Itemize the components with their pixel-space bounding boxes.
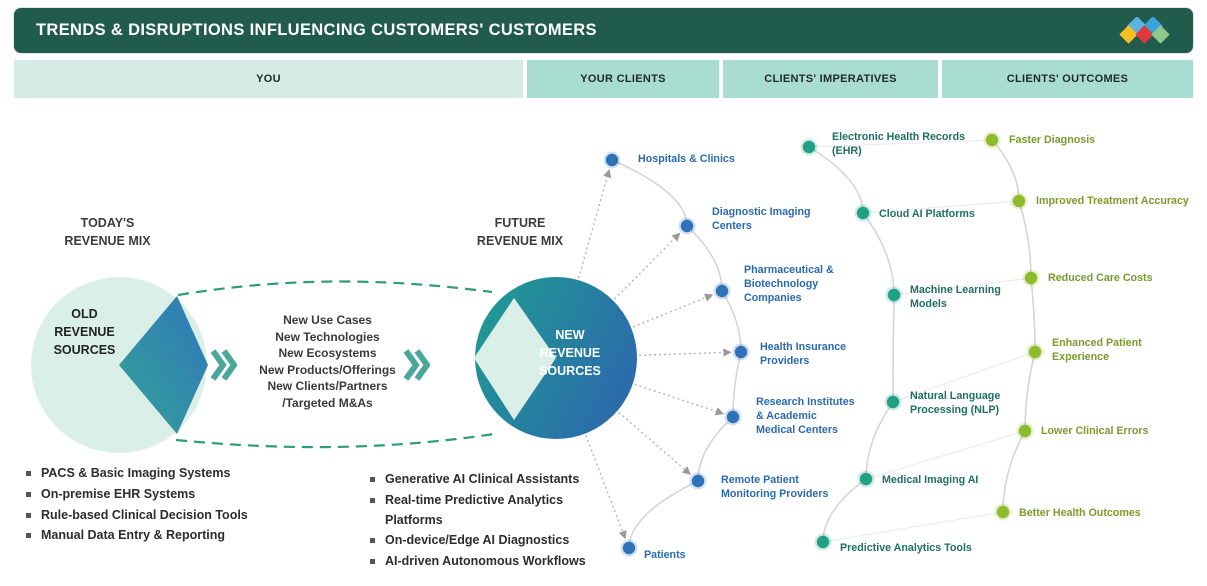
node-label[interactable]: Natural Language Processing (NLP) bbox=[910, 389, 1022, 417]
node-dot[interactable] bbox=[727, 411, 739, 423]
double-chevron-right-icon bbox=[211, 348, 237, 382]
node-label[interactable]: Predictive Analytics Tools bbox=[840, 541, 990, 555]
list-item: On-device/Edge AI Diagnostics bbox=[370, 531, 602, 551]
column-label: YOUR CLIENTS bbox=[580, 73, 666, 85]
node-dot[interactable] bbox=[887, 396, 899, 408]
node-dot[interactable] bbox=[1019, 425, 1031, 437]
node-dot[interactable] bbox=[986, 134, 998, 146]
node-label[interactable]: Hospitals & Clinics bbox=[638, 152, 768, 166]
node-label[interactable]: Lower Clinical Errors bbox=[1041, 424, 1186, 438]
column-header-clients-imperatives[interactable]: CLIENTS' IMPERATIVES bbox=[723, 60, 938, 98]
heading-line-1: TODAY'S bbox=[40, 214, 175, 232]
column-label: CLIENTS' IMPERATIVES bbox=[764, 73, 896, 85]
node-label[interactable]: Pharmaceutical & Biotechnology Companies bbox=[744, 263, 844, 305]
node-dot[interactable] bbox=[606, 154, 618, 166]
node-dot[interactable] bbox=[857, 207, 869, 219]
list-item: AI-driven Autonomous Workflows bbox=[370, 552, 602, 572]
node-dot[interactable] bbox=[1029, 346, 1041, 358]
driver-line: New Products/Offerings bbox=[240, 362, 415, 379]
node-label[interactable]: Electronic Health Records (EHR) bbox=[832, 130, 978, 158]
future-revenue-mix-heading: FUTURE REVENUE MIX bbox=[440, 214, 600, 250]
old-revenue-bullet-list: PACS & Basic Imaging Systems On-premise … bbox=[26, 464, 356, 547]
node-dot[interactable] bbox=[803, 141, 815, 153]
node-dot[interactable] bbox=[692, 475, 704, 487]
driver-line: New Ecosystems bbox=[240, 345, 415, 362]
todays-revenue-mix-heading: TODAY'S REVENUE MIX bbox=[40, 214, 175, 250]
new-revenue-bullet-list: Generative AI Clinical Assistants Real-t… bbox=[370, 470, 602, 573]
node-label[interactable]: Reduced Care Costs bbox=[1048, 271, 1193, 285]
node-dot[interactable] bbox=[1025, 272, 1037, 284]
node-dot[interactable] bbox=[888, 289, 900, 301]
diagram-canvas: TRENDS & DISRUPTIONS INFLUENCING CUSTOME… bbox=[0, 0, 1207, 586]
node-label[interactable]: Better Health Outcomes bbox=[1019, 506, 1174, 520]
node-label[interactable]: Cloud AI Platforms bbox=[879, 207, 999, 221]
driver-line: New Use Cases bbox=[240, 312, 415, 329]
column-header-clients-outcomes[interactable]: CLIENTS' OUTCOMES bbox=[942, 60, 1193, 98]
node-dot[interactable] bbox=[716, 285, 728, 297]
driver-line: /Targeted M&As bbox=[240, 395, 415, 412]
list-item: Rule-based Clinical Decision Tools bbox=[26, 506, 356, 526]
node-dot[interactable] bbox=[1013, 195, 1025, 207]
node-label[interactable]: Research Institutes & Academic Medical C… bbox=[756, 395, 858, 437]
list-item: Real-time Predictive Analytics Platforms bbox=[370, 491, 602, 531]
node-label[interactable]: Faster Diagnosis bbox=[1009, 133, 1139, 147]
double-chevron-right-icon bbox=[404, 348, 430, 382]
node-dot[interactable] bbox=[817, 536, 829, 548]
list-item: Generative AI Clinical Assistants bbox=[370, 470, 602, 490]
column-header-your-clients[interactable]: YOUR CLIENTS bbox=[527, 60, 719, 98]
column-label: CLIENTS' OUTCOMES bbox=[1007, 73, 1128, 85]
page-title: TRENDS & DISRUPTIONS INFLUENCING CUSTOME… bbox=[36, 21, 597, 40]
list-item: On-premise EHR Systems bbox=[26, 485, 356, 505]
node-dot[interactable] bbox=[623, 542, 635, 554]
node-label[interactable]: Patients bbox=[644, 548, 714, 562]
transformation-drivers-list: New Use Cases New Technologies New Ecosy… bbox=[240, 312, 415, 411]
node-label[interactable]: Machine Learning Models bbox=[910, 283, 1020, 311]
node-label[interactable]: Health Insurance Providers bbox=[760, 340, 852, 368]
node-label[interactable]: Diagnostic Imaging Centers bbox=[712, 205, 812, 233]
heading-line-2: REVENUE MIX bbox=[40, 232, 175, 250]
node-label[interactable]: Medical Imaging AI bbox=[882, 473, 1002, 487]
node-label[interactable]: Improved Treatment Accuracy bbox=[1036, 194, 1207, 208]
node-dot[interactable] bbox=[997, 506, 1009, 518]
header-banner: TRENDS & DISRUPTIONS INFLUENCING CUSTOME… bbox=[14, 8, 1193, 53]
heading-line-2: REVENUE MIX bbox=[440, 232, 600, 250]
driver-line: New Technologies bbox=[240, 329, 415, 346]
list-item: Manual Data Entry & Reporting bbox=[26, 526, 356, 546]
column-header-you[interactable]: YOU bbox=[14, 60, 523, 98]
new-revenue-sources-circle bbox=[474, 276, 638, 440]
node-dot[interactable] bbox=[860, 473, 872, 485]
driver-line: New Clients/Partners bbox=[240, 378, 415, 395]
column-label: YOU bbox=[256, 73, 281, 85]
node-label[interactable]: Enhanced Patient Experience bbox=[1052, 336, 1162, 364]
diamond-cluster-logo bbox=[1117, 17, 1175, 45]
node-dot[interactable] bbox=[735, 346, 747, 358]
node-dot[interactable] bbox=[681, 220, 693, 232]
node-label[interactable]: Remote Patient Monitoring Providers bbox=[721, 473, 829, 501]
heading-line-1: FUTURE bbox=[440, 214, 600, 232]
old-revenue-sources-circle bbox=[30, 276, 208, 454]
list-item: PACS & Basic Imaging Systems bbox=[26, 464, 356, 484]
